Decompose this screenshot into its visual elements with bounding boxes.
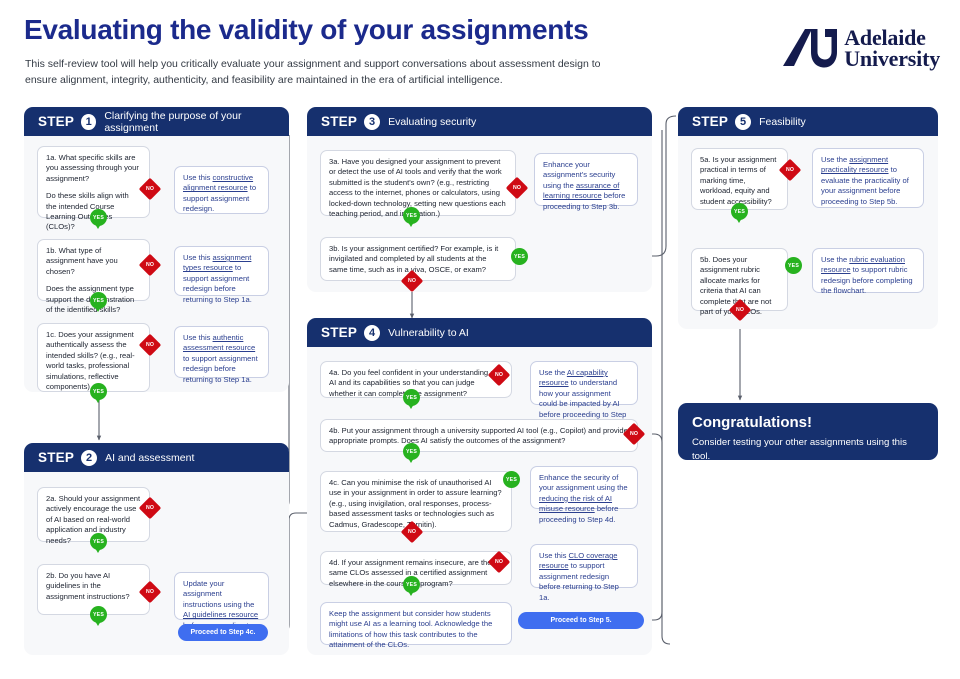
flowchart-page: Evaluating the validity of your assignme… [0, 0, 960, 679]
yes-badge-4d: YES [403, 576, 420, 593]
yes-badge-4a: YES [403, 389, 420, 406]
step-2-header: STEP 2 AI and assessment [24, 443, 289, 472]
step-3-title: Evaluating security [388, 116, 476, 128]
yes-badge-3a: YES [403, 207, 420, 224]
yes-badge-3b: YES [511, 248, 528, 265]
question-1b-part-1: 1b. What type of assignment have you cho… [46, 246, 141, 277]
university-crest-icon [781, 26, 837, 70]
yes-badge-1a: YES [90, 209, 107, 226]
question-4c: 4c. Can you minimise the risk of unautho… [320, 471, 512, 532]
resource-2b: Update your assignment instructions usin… [174, 572, 269, 620]
step-4-header: STEP 4 Vulnerability to AI [307, 318, 652, 347]
step-4-title: Vulnerability to AI [388, 327, 469, 339]
outcome-keep-assignment-text: Keep the assignment but consider how stu… [329, 609, 503, 651]
resource-1c: Use this authentic assessment resource t… [174, 326, 269, 378]
congratulations-body: Consider testing your other assignments … [692, 436, 924, 464]
step-5-title: Feasibility [759, 116, 806, 128]
question-1a: 1a. What specific skills are you assessi… [37, 146, 150, 218]
yes-badge-5a: YES [731, 203, 748, 220]
resource-4a: Use the AI capability resource to unders… [530, 361, 638, 405]
question-3a: 3a. Have you designed your assignment to… [320, 150, 516, 216]
step-3-number: 3 [364, 114, 380, 130]
resource-5b-pre: Use the [821, 255, 849, 264]
question-5a-text: 5a. Is your assignment practical in term… [700, 155, 779, 207]
question-4b-text: 4b. Put your assignment through a univer… [329, 426, 629, 447]
step-3-header: STEP 3 Evaluating security [307, 107, 652, 136]
question-1a-part-1: 1a. What specific skills are you assessi… [46, 153, 141, 184]
yes-badge-5b: YES [785, 257, 802, 274]
proceed-to-step-5-button[interactable]: Proceed to Step 5. [518, 612, 644, 629]
step-1-number: 1 [81, 114, 96, 130]
step-2-number: 2 [81, 450, 97, 466]
question-1c: 1c. Does your assignment authentically a… [37, 323, 150, 392]
step-2-title: AI and assessment [105, 452, 194, 464]
resource-1b-pre: Use this [183, 253, 213, 262]
resource-4c: Enhance the security of your assignment … [530, 466, 638, 509]
question-3b: 3b. Is your assignment certified? For ex… [320, 237, 516, 281]
resource-4c-pre: Enhance the security of your assignment … [539, 473, 628, 492]
yes-badge-4c: YES [503, 471, 520, 488]
page-title: Evaluating the validity of your assignme… [24, 14, 588, 46]
step-word: STEP [38, 450, 74, 465]
adelaide-university-logo: Adelaide University [781, 26, 940, 70]
yes-badge-2b: YES [90, 606, 107, 623]
step-word: STEP [321, 114, 357, 129]
yes-badge-2a: YES [90, 533, 107, 550]
question-4b: 4b. Put your assignment through a univer… [320, 419, 638, 452]
step-5-number: 5 [735, 114, 751, 130]
question-2b-text: 2b. Do you have AI guidelines in the ass… [46, 571, 141, 602]
step-word: STEP [38, 114, 74, 129]
step-5-header: STEP 5 Feasibility [678, 107, 938, 136]
question-4c-text: 4c. Can you minimise the risk of unautho… [329, 478, 503, 530]
resource-2b-link[interactable]: AI guidelines resource [183, 610, 258, 619]
resource-4a-pre: Use the [539, 368, 567, 377]
resource-4d: Use this CLO coverage resource to suppor… [530, 544, 638, 588]
question-5a: 5a. Is your assignment practical in term… [691, 148, 788, 210]
congratulations-heading: Congratulations! [692, 414, 924, 431]
logo-line-1: Adelaide [844, 27, 940, 48]
step-1-header: STEP 1 Clarifying the purpose of your as… [24, 107, 289, 136]
logo-line-2: University [844, 48, 940, 69]
resource-1a-pre: Use this [183, 173, 213, 182]
yes-badge-4b: YES [403, 443, 420, 460]
resource-2b-pre: Update your assignment instructions usin… [183, 579, 254, 609]
page-subtitle: This self-review tool will help you crit… [25, 56, 625, 88]
question-1b: 1b. What type of assignment have you cho… [37, 239, 150, 301]
resource-1a: Use this constructive alignment resource… [174, 166, 269, 214]
step-1-title: Clarifying the purpose of your assignmen… [104, 110, 289, 134]
proceed-to-step-4c-button[interactable]: Proceed to Step 4c. [178, 624, 268, 641]
resource-5a-pre: Use the [821, 155, 849, 164]
step-word: STEP [321, 325, 357, 340]
resource-1b: Use this assignment types resource to su… [174, 246, 269, 296]
resource-5b: Use the rubric evaluation resource to su… [812, 248, 924, 293]
resource-5a: Use the assignment practicality resource… [812, 148, 924, 208]
resource-1c-post: to support assignment redesign before re… [183, 354, 258, 384]
outcome-keep-assignment: Keep the assignment but consider how stu… [320, 602, 512, 645]
resource-1c-pre: Use this [183, 333, 213, 342]
step-4-number: 4 [364, 325, 380, 341]
resource-4d-pre: Use this [539, 551, 569, 560]
question-3b-text: 3b. Is your assignment certified? For ex… [329, 244, 507, 275]
yes-badge-1b: YES [90, 292, 107, 309]
congratulations-panel: Congratulations! Consider testing your o… [678, 403, 938, 460]
yes-badge-1c: YES [90, 383, 107, 400]
resource-3a: Enhance your assignment's security using… [534, 153, 638, 206]
step-word: STEP [692, 114, 728, 129]
